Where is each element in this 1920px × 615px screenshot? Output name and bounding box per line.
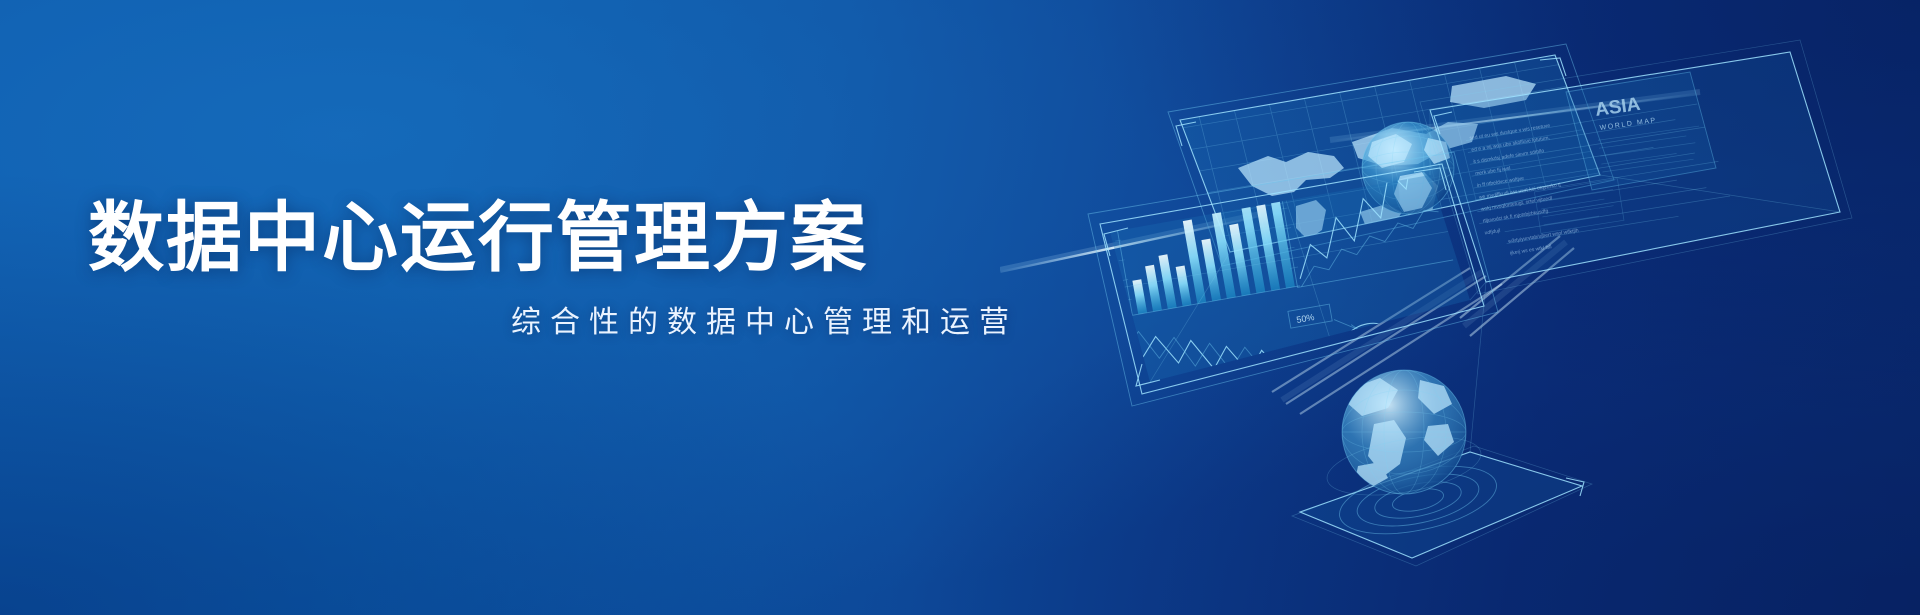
banner-text-block: 数据中心运行管理方案 综合性的数据中心管理和运营 (88, 196, 1018, 341)
hud-illustration: ASIA WORLD MAP (1000, 0, 1920, 615)
page-title: 数据中心运行管理方案 (88, 196, 1018, 281)
page-subtitle: 综合性的数据中心管理和运营 (88, 297, 1018, 341)
globe-platform (1292, 370, 1592, 566)
hero-banner: 数据中心运行管理方案 综合性的数据中心管理和运营 (0, 0, 1920, 615)
